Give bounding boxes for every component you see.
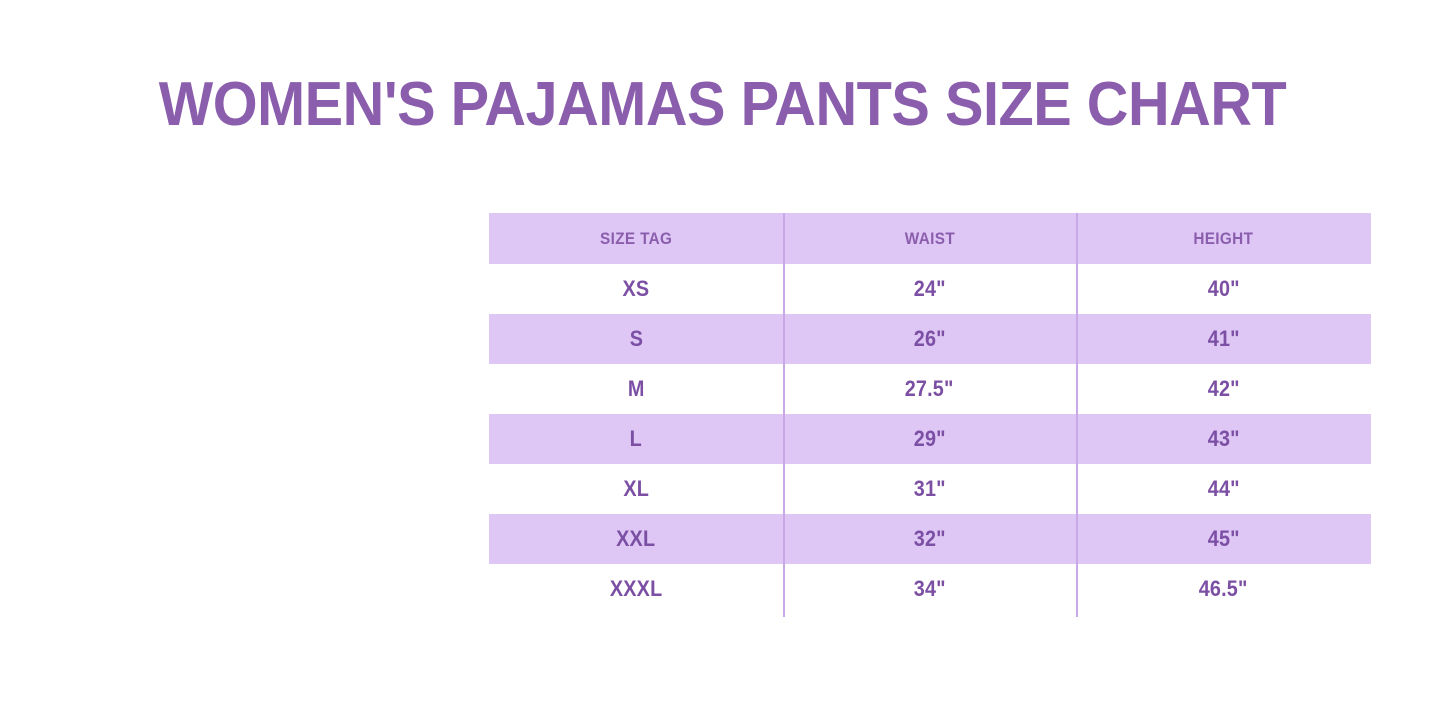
cell-size-tag-value: XXXL: [610, 576, 662, 602]
column-header-height-label: HEIGHT: [1194, 229, 1254, 249]
cell-height-value: 43": [1208, 426, 1240, 452]
table-row: M 27.5" 42": [489, 364, 1371, 414]
cell-height: 45": [1076, 514, 1371, 564]
cell-size-tag-value: M: [628, 376, 645, 402]
table-row: XS 24" 40": [489, 264, 1371, 314]
cell-height: 44": [1076, 464, 1371, 514]
cell-height: 46.5": [1076, 564, 1371, 614]
column-header-size-tag-label: SIZE TAG: [600, 229, 672, 249]
cell-waist-value: 29": [914, 426, 946, 452]
cell-size-tag-value: XXL: [616, 526, 655, 552]
table-body: XS 24" 40" S 26" 41" M 27.5" 42" L 29": [489, 264, 1371, 614]
table-row: XL 31" 44": [489, 464, 1371, 514]
table-row: S 26" 41": [489, 314, 1371, 364]
size-chart-table-container: SIZE TAG WAIST HEIGHT XS 24" 40": [489, 213, 1371, 614]
cell-waist: 31": [783, 464, 1076, 514]
cell-waist: 24": [783, 264, 1076, 314]
column-divider-first: [783, 213, 785, 617]
cell-height: 40": [1076, 264, 1371, 314]
cell-height: 43": [1076, 414, 1371, 464]
cell-waist: 29": [783, 414, 1076, 464]
cell-waist: 34": [783, 564, 1076, 614]
table-row: L 29" 43": [489, 414, 1371, 464]
cell-waist-value: 27.5": [905, 376, 954, 402]
cell-waist: 26": [783, 314, 1076, 364]
cell-size-tag: S: [489, 314, 783, 364]
table-header: SIZE TAG WAIST HEIGHT: [489, 213, 1371, 264]
cell-height: 42": [1076, 364, 1371, 414]
cell-height-value: 41": [1208, 326, 1240, 352]
cell-size-tag-value: XS: [623, 276, 650, 302]
cell-size-tag: XL: [489, 464, 783, 514]
cell-size-tag-value: XL: [623, 476, 649, 502]
cell-size-tag-value: L: [630, 426, 642, 452]
size-chart-page: WOMEN'S PAJAMAS PANTS SIZE CHART SIZE TA…: [0, 0, 1445, 723]
cell-height-value: 40": [1208, 276, 1240, 302]
cell-size-tag: XS: [489, 264, 783, 314]
cell-waist-value: 31": [914, 476, 946, 502]
table-row: XXXL 34" 46.5": [489, 564, 1371, 614]
table-row: XXL 32" 45": [489, 514, 1371, 564]
cell-size-tag: XXXL: [489, 564, 783, 614]
cell-waist: 32": [783, 514, 1076, 564]
cell-height-value: 45": [1208, 526, 1240, 552]
cell-size-tag: XXL: [489, 514, 783, 564]
table-header-row: SIZE TAG WAIST HEIGHT: [489, 213, 1371, 264]
cell-waist-value: 32": [914, 526, 946, 552]
cell-waist-value: 24": [914, 276, 946, 302]
page-title: WOMEN'S PAJAMAS PANTS SIZE CHART: [51, 70, 1395, 140]
column-header-waist: WAIST: [783, 213, 1076, 264]
cell-height-value: 42": [1208, 376, 1240, 402]
cell-size-tag: M: [489, 364, 783, 414]
cell-height-value: 44": [1208, 476, 1240, 502]
cell-height-value: 46.5": [1199, 576, 1248, 602]
cell-waist: 27.5": [783, 364, 1076, 414]
cell-waist-value: 26": [914, 326, 946, 352]
column-divider-second: [1076, 213, 1078, 617]
cell-height: 41": [1076, 314, 1371, 364]
column-header-size-tag: SIZE TAG: [489, 213, 783, 264]
column-header-height: HEIGHT: [1076, 213, 1371, 264]
cell-waist-value: 34": [914, 576, 946, 602]
cell-size-tag: L: [489, 414, 783, 464]
column-header-waist-label: WAIST: [904, 229, 954, 249]
cell-size-tag-value: S: [629, 326, 642, 352]
size-chart-table: SIZE TAG WAIST HEIGHT XS 24" 40": [489, 213, 1371, 614]
